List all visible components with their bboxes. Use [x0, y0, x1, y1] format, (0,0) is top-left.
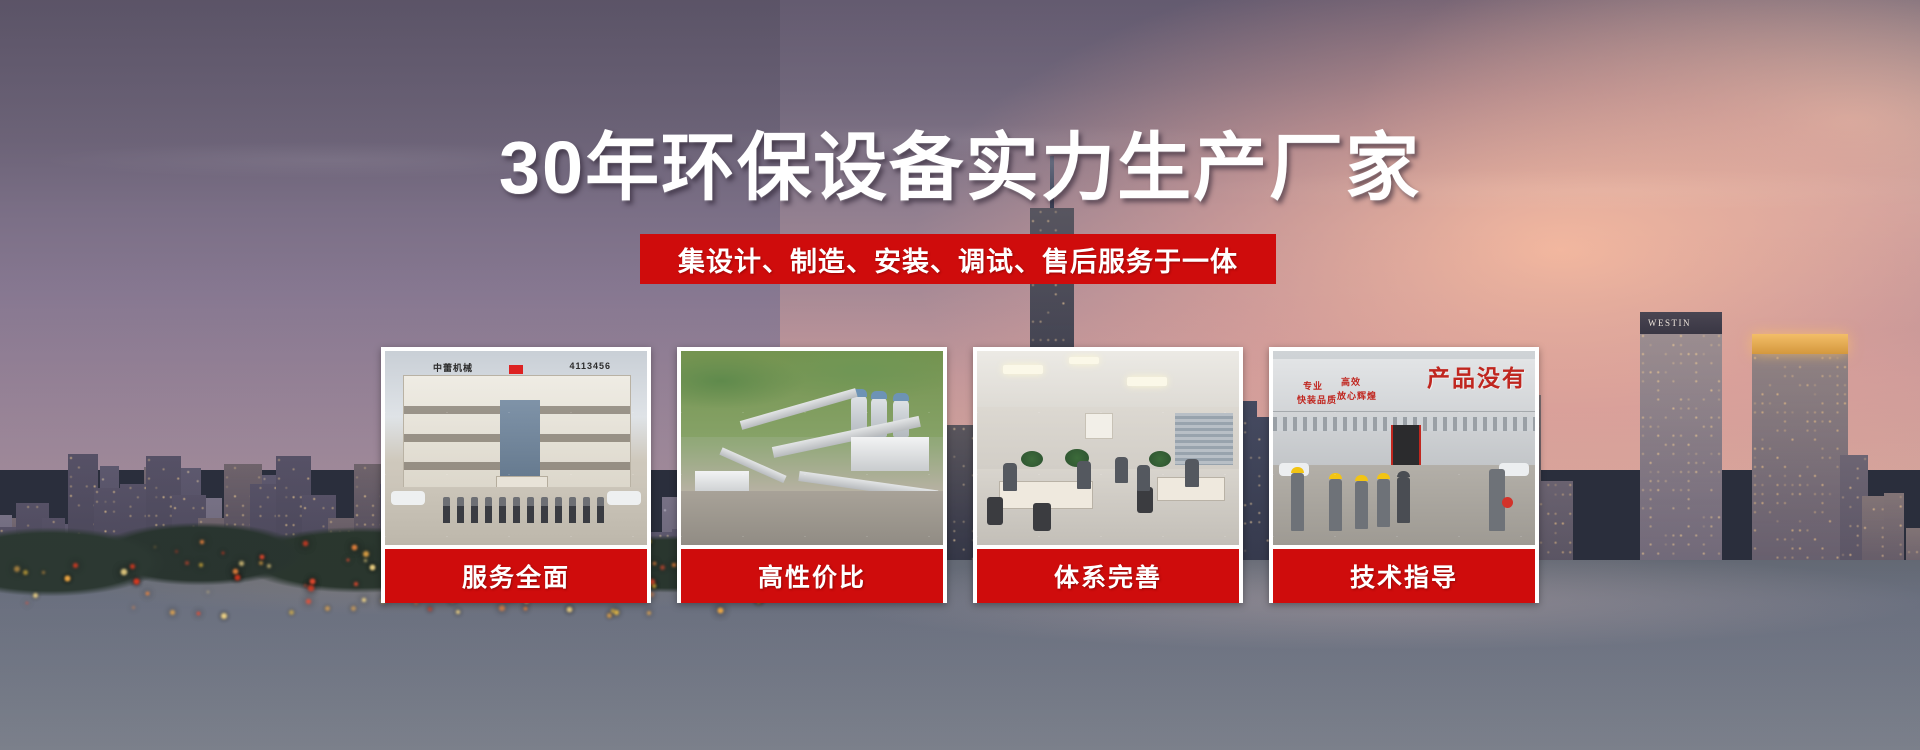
card-caption-text: 高性价比 — [758, 558, 866, 594]
card-caption-bar: 技术指导 — [1273, 549, 1535, 603]
card-caption-bar: 体系完善 — [977, 549, 1239, 603]
banner-content: 30年环保设备实力生产厂家 集设计、制造、安装、调试、售后服务于一体 中蕾机械 … — [0, 0, 1920, 750]
factory-workers-photo: 产品没有 专业 高效 快装品质 放心辉煌 — [1273, 351, 1535, 545]
hero-banner: WESTIN 30年环保设备实力生产厂家 集设计、制造、安装、调试、售后服务于一… — [0, 0, 1920, 750]
headline-text: 30年环保设备实力生产厂家 — [0, 108, 1920, 215]
feature-card[interactable]: 中蕾机械 4113456 服务全面 — [381, 347, 651, 603]
photo-watermark — [385, 351, 647, 545]
card-caption-text: 服务全面 — [462, 558, 570, 594]
photo-watermark — [977, 351, 1239, 545]
feature-card[interactable]: 体系完善 — [973, 347, 1243, 603]
feature-card[interactable]: 高性价比 — [677, 347, 947, 603]
office-interior-photo — [977, 351, 1239, 545]
company-building-photo: 中蕾机械 4113456 — [385, 351, 647, 545]
card-caption-text: 技术指导 — [1350, 558, 1458, 594]
subtitle-text: 集设计、制造、安装、调试、售后服务于一体 — [678, 240, 1238, 279]
photo-watermark — [681, 351, 943, 545]
photo-watermark — [1273, 351, 1535, 545]
card-caption-bar: 高性价比 — [681, 549, 943, 603]
card-caption-text: 体系完善 — [1054, 558, 1162, 594]
feature-card-list: 中蕾机械 4113456 服务全面 — [381, 347, 1539, 603]
feature-card[interactable]: 产品没有 专业 高效 快装品质 放心辉煌 — [1269, 347, 1539, 603]
aerial-plant-photo — [681, 351, 943, 545]
subtitle-ribbon: 集设计、制造、安装、调试、售后服务于一体 — [640, 234, 1276, 284]
card-caption-bar: 服务全面 — [385, 549, 647, 603]
